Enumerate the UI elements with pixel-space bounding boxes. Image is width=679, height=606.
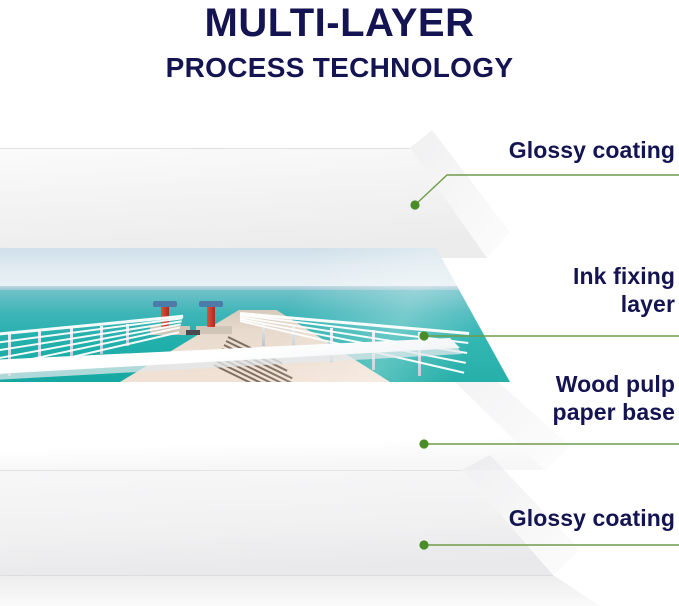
layer-label-glossy-coating-bottom: Glossy coating — [509, 504, 675, 532]
leader-wood-pulp — [419, 439, 679, 448]
leader-dot-2 — [419, 331, 428, 340]
layer-label-glossy-coating-top: Glossy coating — [509, 136, 675, 164]
infographic-canvas: MULTI-LAYER PROCESS TECHNOLOGY — [0, 0, 679, 606]
layer-label-ink-fixing: Ink fixing layer — [573, 262, 675, 318]
page-subtitle: PROCESS TECHNOLOGY — [0, 44, 679, 83]
leader-glossy-top — [410, 175, 679, 210]
leader-ink-fixing — [419, 331, 679, 340]
leader-dot-3 — [419, 439, 428, 448]
leader-dot-4 — [419, 540, 428, 549]
leader-line-1 — [415, 175, 679, 205]
leader-glossy-bottom — [419, 540, 679, 549]
layer-label-wood-pulp-paper-base: Wood pulp paper base — [553, 370, 675, 426]
page-title: MULTI-LAYER — [0, 0, 679, 44]
title-block: MULTI-LAYER PROCESS TECHNOLOGY — [0, 0, 679, 83]
leader-dot-1 — [410, 200, 419, 209]
